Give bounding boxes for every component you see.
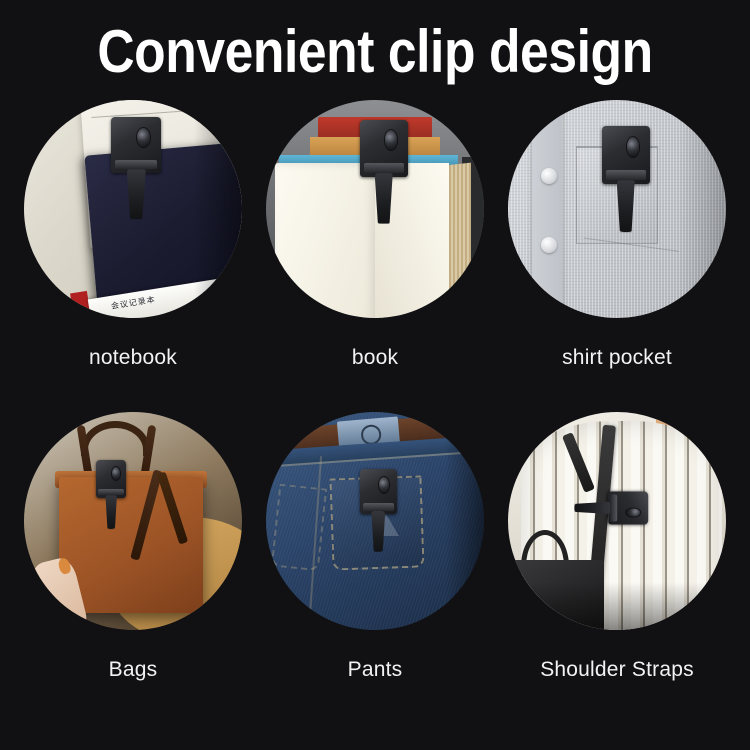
clip-camera [96, 460, 127, 525]
gallery-row: 会议记录本 notebook [0, 100, 750, 412]
clip-tongue [375, 173, 393, 224]
clip-camera [360, 469, 397, 547]
camera-seam [363, 503, 394, 511]
vignette-shadow [508, 582, 726, 630]
clip-tongue [127, 169, 146, 219]
gallery-row: Bags [0, 412, 750, 724]
camera-seam [98, 489, 124, 496]
clip-tongue [105, 495, 117, 529]
photo-book [266, 100, 484, 318]
camera-lens-icon [112, 467, 120, 480]
camera-seam [611, 494, 618, 521]
gallery-item-book[interactable]: book [250, 100, 500, 412]
scene-pants [266, 412, 484, 630]
gallery-item-pants[interactable]: Pants [250, 412, 500, 724]
gallery-item-bags[interactable]: Bags [8, 412, 258, 724]
camera-seam [364, 163, 404, 173]
scene-notebook: 会议记录本 [24, 100, 242, 318]
photo-shoulder-straps [508, 412, 726, 630]
camera-seam [606, 170, 646, 180]
caption-shirt-pocket: shirt pocket [492, 346, 742, 370]
clip-camera [111, 117, 161, 213]
vignette-shadow [194, 100, 242, 318]
shirt-button [541, 168, 557, 184]
use-case-gallery: 会议记录本 notebook [0, 100, 750, 724]
camera-seam [115, 160, 157, 170]
page-title: Convenient clip design [53, 20, 698, 84]
vignette-shadow [678, 100, 726, 318]
camera-lens-icon [379, 477, 389, 493]
clip-tongue [575, 502, 611, 514]
caption-shoulder-straps: Shoulder Straps [492, 658, 742, 682]
shirt-button [541, 237, 557, 253]
camera-lens-icon [385, 130, 397, 150]
clip-camera [579, 492, 649, 525]
notebook-label-text: 会议记录本 [111, 294, 157, 312]
gallery-item-notebook[interactable]: 会议记录本 notebook [8, 100, 258, 412]
caption-pants: Pants [250, 658, 500, 682]
clip-camera [360, 120, 408, 218]
photo-shirt-pocket [508, 100, 726, 318]
caption-book: book [250, 346, 500, 370]
gallery-item-shoulder-straps[interactable]: Shoulder Straps [492, 412, 742, 724]
scene-bags [24, 412, 242, 630]
scene-shoulder-straps [508, 412, 726, 630]
scene-book [266, 100, 484, 318]
vignette-shadow [445, 412, 484, 630]
clip-tongue [617, 180, 635, 232]
gallery-item-shirt-pocket[interactable]: shirt pocket [492, 100, 742, 412]
caption-notebook: notebook [8, 346, 258, 370]
clip-camera [602, 126, 650, 226]
clip-tongue [371, 511, 385, 552]
photo-bags [24, 412, 242, 630]
photo-notebook: 会议记录本 [24, 100, 242, 318]
photo-pants [266, 412, 484, 630]
caption-bags: Bags [8, 658, 258, 682]
shirt-placket [532, 100, 563, 318]
product-feature-poster: Convenient clip design 会议记录本 [0, 0, 750, 750]
scene-shirt-pocket [508, 100, 726, 318]
